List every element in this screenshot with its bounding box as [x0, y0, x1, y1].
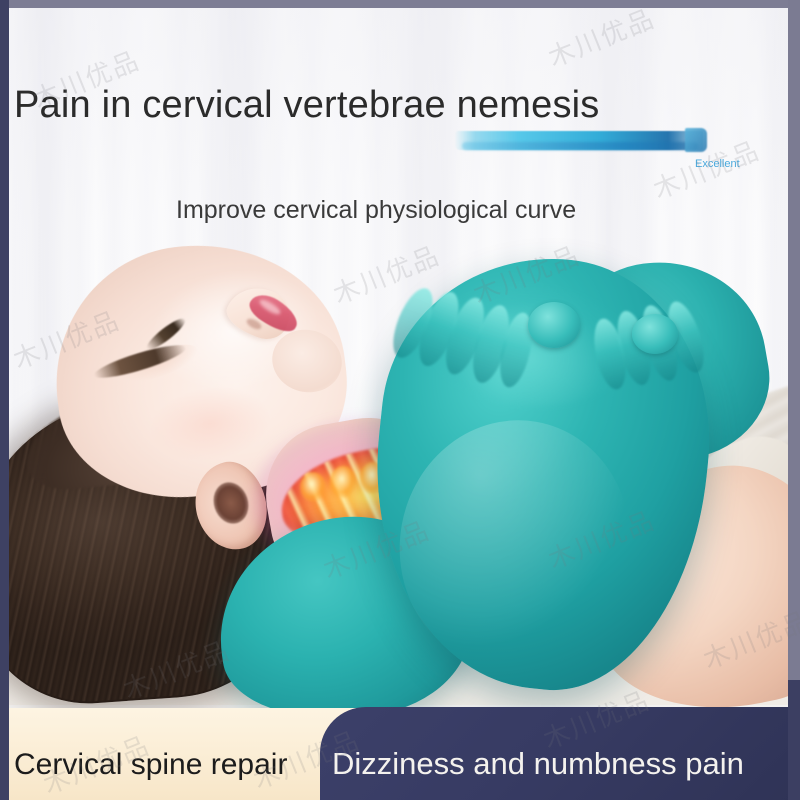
- product-advertisement-image: Pain in cervical vertebrae nemesis Impro…: [0, 0, 800, 800]
- page-title: Pain in cervical vertebrae nemesis: [14, 84, 600, 127]
- subtitle: Improve cervical physiological curve: [176, 196, 576, 225]
- frame-top-border: [0, 0, 800, 8]
- vertebra-node: [300, 472, 326, 502]
- brush-stroke-shadow: [462, 142, 698, 150]
- frame-right-border-lower: [788, 680, 800, 800]
- banner-dizziness-pain-label: Dizziness and numbness pain: [332, 746, 744, 782]
- frame-left-border: [0, 0, 9, 800]
- pillow-acupressure-nub: [528, 302, 580, 348]
- vertebra-node: [330, 466, 356, 498]
- brush-stroke-tip: [685, 128, 707, 152]
- pillow-acupressure-nub: [632, 314, 678, 354]
- excellent-label: Excellent: [695, 158, 740, 170]
- banner-cervical-repair-label: Cervical spine repair: [14, 748, 287, 782]
